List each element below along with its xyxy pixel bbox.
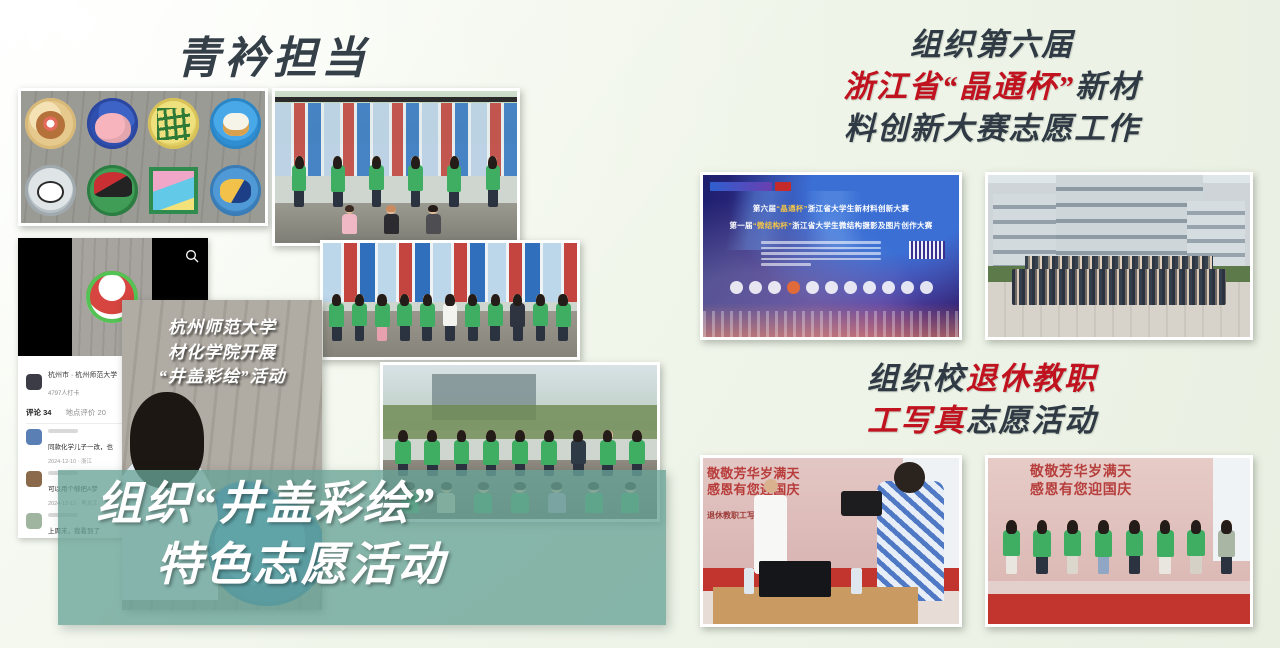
photo-volunteer-team-backdrop: 敬敬芳华岁满天 感恩有您迎国庆	[985, 455, 1253, 627]
photo-retiree-portrait-session: 敬敬芳华岁满天 感恩有您迎国庆 退休教职工写真活动	[700, 455, 962, 627]
manhole-tile	[83, 91, 143, 156]
slide-canvas: 青衿担当 组织第六届 浙江省“晶通杯”新材 料创新大赛志愿工作 组织校退休教职 …	[0, 0, 1280, 648]
poster-title-line2-pre: 第一届	[729, 221, 752, 230]
photo-manhole-cover-collage	[18, 88, 268, 226]
overlay-caption: 组织“井盖彩绘” 特色志愿活动	[96, 474, 676, 595]
poster-title-line1: 第六届“晶通杯”浙江省大学生新材料创新大赛	[703, 203, 959, 214]
heading-competition-line2-red: 浙江省“晶通杯”	[843, 69, 1075, 104]
crowd-front-row	[1012, 269, 1227, 305]
heading-competition-line2: 浙江省“晶通杯”新材	[782, 66, 1202, 108]
heading-retiree-line1: 组织校退休教职	[772, 358, 1192, 400]
poster-skyline	[703, 311, 959, 337]
poster-sponsor-icons	[703, 281, 959, 294]
heading-retiree-line2-red: 工写真	[867, 403, 966, 438]
search-icon[interactable]	[184, 248, 200, 264]
tab-comments[interactable]: 评论 34	[26, 407, 51, 418]
comment-body: 同款化学儿子一改，也 2024-12-10 · 浙江	[48, 429, 113, 465]
overlay-caption-line1: 组织“井盖彩绘”	[96, 478, 436, 529]
manhole-tile	[206, 158, 266, 223]
manhole-tile	[206, 91, 266, 156]
camera-icon	[841, 491, 882, 516]
video-caption-line1: 杭州师范大学	[122, 316, 322, 341]
manhole-tile	[144, 91, 204, 156]
team-members	[988, 458, 1250, 624]
poster-title-line2: 第一届“微结构杯”浙江省大学生微结构摄影及图片创作大赛	[703, 220, 959, 231]
heading-retiree-line1-black: 组织校	[867, 361, 966, 396]
water-bottle	[851, 568, 861, 595]
photo-scene	[275, 91, 517, 243]
poster-tag-left	[710, 182, 772, 191]
heading-competition-line3: 料创新大赛志愿工作	[782, 108, 1202, 150]
water-bottle	[744, 568, 754, 595]
photo-competition-backdrop: 第六届“晶通杯”浙江省大学生新材料创新大赛 第一届“微结构杯”浙江省大学生微结构…	[700, 172, 962, 340]
comment-text: 同款化学儿子一改，也	[48, 444, 113, 451]
poster-art: 第六届“晶通杯”浙江省大学生新材料创新大赛 第一届“微结构杯”浙江省大学生微结构…	[703, 175, 959, 337]
heading-retiree-line2-black: 志愿活动	[966, 403, 1097, 438]
heading-competition-line1: 组织第六届	[782, 24, 1202, 66]
avatar	[26, 513, 42, 529]
manhole-tile	[83, 158, 143, 223]
poster-fine-print	[761, 241, 881, 269]
video-caption-line3: “井盖彩绘”活动	[122, 365, 322, 390]
phone-location-text: 杭州市 · 杭州师范大学 4797人打卡	[48, 364, 117, 400]
photo-volunteers-bus-stop	[272, 88, 520, 246]
location-pin-icon	[26, 374, 42, 390]
avatar	[26, 471, 42, 487]
qr-code-icon	[909, 241, 945, 259]
heading-retiree-portrait: 组织校退休教职 工写真志愿活动	[772, 358, 1192, 442]
poster-title-line1-post: 浙江省大学生新材料创新大赛	[808, 204, 909, 213]
video-caption-line2: 材化学院开展	[122, 341, 322, 366]
comment-date: 2024-12-10 · 浙江	[48, 457, 113, 465]
avatar	[26, 429, 42, 445]
poster-title-line2-em: “微结构杯”	[753, 221, 792, 230]
photographer-person	[877, 481, 944, 601]
tab-place-rating[interactable]: 地点评价 20	[65, 407, 105, 418]
backdrop-banner-line1: 敬敬芳华岁满天	[707, 466, 800, 482]
poster-title-line2-post: 浙江省大学生微结构摄影及图片创作大赛	[792, 221, 932, 230]
poster-tag-red	[775, 182, 791, 191]
heading-competition-line2-rest: 新材	[1075, 69, 1141, 104]
overlay-caption-line2: 特色志愿活动	[156, 535, 676, 596]
photo-volunteers-display-boards	[320, 240, 580, 360]
poster-title-line1-em: “晶通杯”	[776, 204, 808, 213]
manhole-tile	[144, 158, 204, 223]
photo-campus-building-group	[985, 172, 1253, 340]
photo-scene	[323, 243, 577, 357]
manhole-grid	[21, 91, 265, 223]
heading-retiree-line2: 工写真志愿活动	[772, 400, 1192, 442]
heading-competition: 组织第六届 浙江省“晶通杯”新材 料创新大赛志愿工作	[782, 24, 1202, 150]
comment-author	[48, 429, 78, 433]
heading-retiree-line1-red: 退休教职	[966, 361, 1097, 396]
manhole-tile	[21, 91, 81, 156]
video-caption: 杭州师范大学 材化学院开展 “井盖彩绘”活动	[122, 316, 322, 390]
backdrop-banner-text: 敬敬芳华岁满天 感恩有您迎国庆	[707, 466, 800, 499]
page-title: 青衿担当	[176, 22, 370, 86]
laptop	[759, 561, 831, 598]
phone-location-title: 杭州市 · 杭州师范大学	[48, 372, 117, 379]
manhole-tile	[21, 158, 81, 223]
poster-title-line1-pre: 第六届	[753, 204, 776, 213]
phone-location-sub: 4797人打卡	[48, 391, 79, 397]
